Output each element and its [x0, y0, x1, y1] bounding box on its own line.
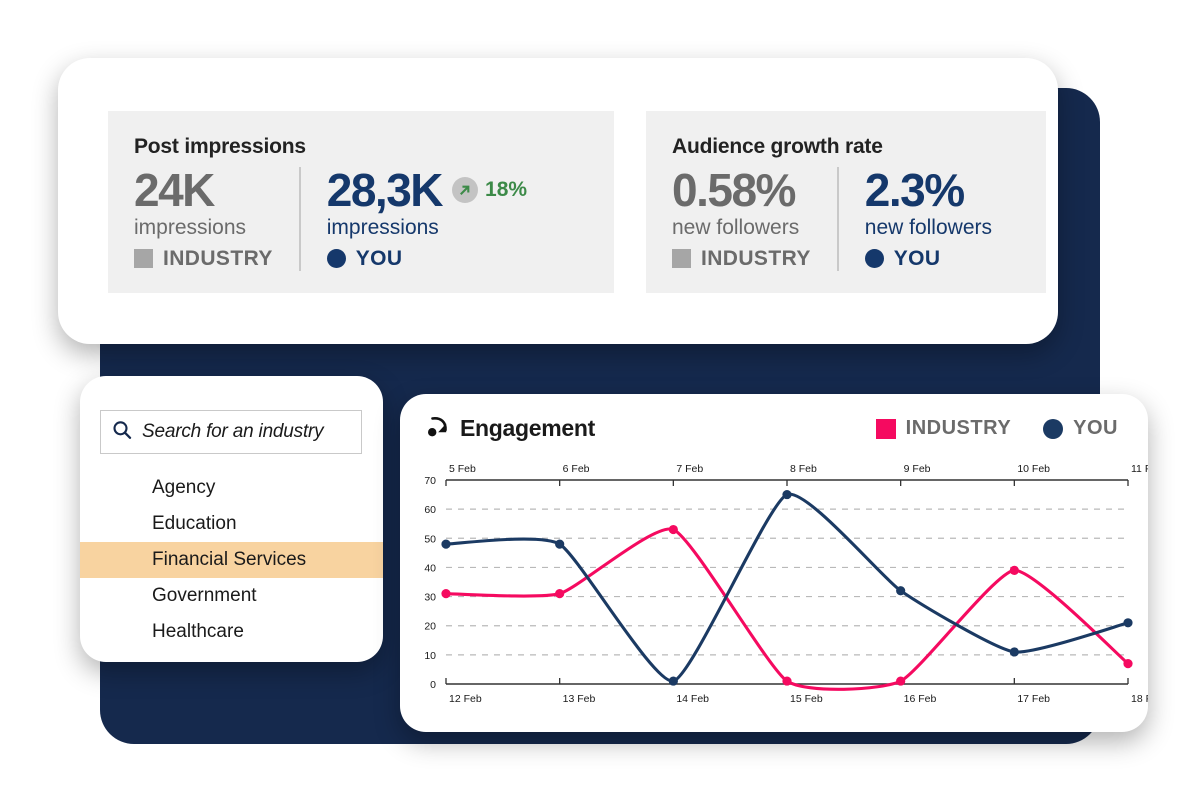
- search-icon: [111, 419, 133, 446]
- kpi-panel-post-impressions: Post impressions 24K impressions INDUSTR…: [108, 111, 614, 293]
- kpi-legend-industry: INDUSTRY: [134, 247, 273, 271]
- kpi-legend-label-you: YOU: [356, 247, 403, 271]
- chart-plot-area: 0102030405060705 Feb12 Feb6 Feb13 Feb7 F…: [400, 452, 1148, 722]
- kpi-col-you: 28,3K 18% impressions: [299, 167, 527, 271]
- svg-text:14 Feb: 14 Feb: [676, 693, 709, 705]
- svg-text:9 Feb: 9 Feb: [904, 463, 931, 475]
- svg-text:7 Feb: 7 Feb: [676, 463, 703, 475]
- svg-text:17 Feb: 17 Feb: [1017, 693, 1050, 705]
- svg-text:10: 10: [424, 650, 436, 662]
- list-item-selected[interactable]: Financial Services: [80, 542, 383, 578]
- kpi-sub-you: impressions: [327, 216, 527, 240]
- kpi-delta-percent: 18%: [485, 178, 527, 202]
- svg-text:10 Feb: 10 Feb: [1017, 463, 1050, 475]
- legend-item-industry[interactable]: INDUSTRY: [876, 417, 1011, 440]
- svg-text:18 Feb: 18 Feb: [1131, 693, 1148, 705]
- list-item[interactable]: Education: [80, 506, 383, 542]
- svg-text:16 Feb: 16 Feb: [904, 693, 937, 705]
- chart-legend: INDUSTRY YOU: [876, 417, 1118, 440]
- svg-text:70: 70: [424, 475, 436, 487]
- svg-text:5 Feb: 5 Feb: [449, 463, 476, 475]
- legend-swatch-industry-icon: [876, 419, 896, 439]
- kpi-value-industry: 0.58%: [672, 167, 811, 214]
- kpi-panel-audience-growth-rate: Audience growth rate 0.58% new followers…: [646, 111, 1046, 293]
- chart-title: Engagement: [460, 415, 595, 442]
- svg-text:15 Feb: 15 Feb: [790, 693, 823, 705]
- list-item[interactable]: Agency: [80, 470, 383, 506]
- kpi-legend-label-industry: INDUSTRY: [701, 247, 811, 271]
- search-input[interactable]: Search for an industry: [100, 410, 362, 454]
- legend-item-you[interactable]: YOU: [1043, 417, 1118, 440]
- you-swatch-icon: [865, 249, 884, 268]
- kpi-value-industry: 24K: [134, 167, 214, 214]
- legend-label-industry: INDUSTRY: [906, 417, 1011, 440]
- svg-text:13 Feb: 13 Feb: [563, 693, 596, 705]
- industry-list: Agency Education Financial Services Gove…: [80, 470, 383, 650]
- industry-swatch-icon: [672, 249, 691, 268]
- kpi-value-you: 28,3K: [327, 167, 442, 214]
- kpi-sub-industry: new followers: [672, 216, 811, 240]
- svg-text:0: 0: [430, 679, 436, 691]
- kpi-legend-label-industry: INDUSTRY: [163, 247, 273, 271]
- screenshot-root: Post impressions 24K impressions INDUSTR…: [0, 0, 1200, 800]
- chart-header: Engagement INDUSTRY YOU: [428, 414, 1118, 443]
- list-item[interactable]: Healthcare: [80, 614, 383, 650]
- svg-text:30: 30: [424, 592, 436, 604]
- kpi-col-industry: 24K impressions INDUSTRY: [134, 167, 299, 271]
- kpi-col-you: 2.3% new followers YOU: [837, 167, 992, 271]
- legend-label-you: YOU: [1073, 417, 1118, 440]
- list-item[interactable]: Government: [80, 578, 383, 614]
- kpi-title: Post impressions: [134, 135, 588, 159]
- engagement-chart-card: Engagement INDUSTRY YOU 0102030405060705…: [400, 394, 1148, 732]
- kpi-legend-label-you: YOU: [894, 247, 941, 271]
- kpi-legend-you: YOU: [865, 247, 992, 271]
- kpi-title: Audience growth rate: [672, 135, 1020, 159]
- search-placeholder-text: Search for an industry: [142, 421, 323, 443]
- svg-text:8 Feb: 8 Feb: [790, 463, 817, 475]
- kpi-value-you: 2.3%: [865, 167, 992, 214]
- kpi-sub-industry: impressions: [134, 216, 273, 240]
- svg-text:12 Feb: 12 Feb: [449, 693, 482, 705]
- engagement-reaction-icon: [428, 414, 450, 443]
- kpi-delta-badge: 18%: [452, 177, 527, 203]
- kpi-card: Post impressions 24K impressions INDUSTR…: [58, 58, 1058, 344]
- you-swatch-icon: [327, 249, 346, 268]
- svg-text:40: 40: [424, 562, 436, 574]
- svg-text:20: 20: [424, 621, 436, 633]
- kpi-legend-you: YOU: [327, 247, 527, 271]
- kpi-col-industry: 0.58% new followers INDUSTRY: [672, 167, 837, 271]
- kpi-sub-you: new followers: [865, 216, 992, 240]
- kpi-panel-row: Post impressions 24K impressions INDUSTR…: [108, 111, 1046, 293]
- engagement-line-chart: 0102030405060705 Feb12 Feb6 Feb13 Feb7 F…: [400, 452, 1148, 722]
- svg-text:60: 60: [424, 504, 436, 516]
- svg-text:6 Feb: 6 Feb: [563, 463, 590, 475]
- svg-text:50: 50: [424, 533, 436, 545]
- svg-text:11 Feb: 11 Feb: [1131, 463, 1148, 475]
- industry-swatch-icon: [134, 249, 153, 268]
- legend-swatch-you-icon: [1043, 419, 1063, 439]
- kpi-legend-industry: INDUSTRY: [672, 247, 811, 271]
- industry-picker-card: Search for an industry Agency Education …: [80, 376, 383, 662]
- trend-up-arrow-icon: [452, 177, 478, 203]
